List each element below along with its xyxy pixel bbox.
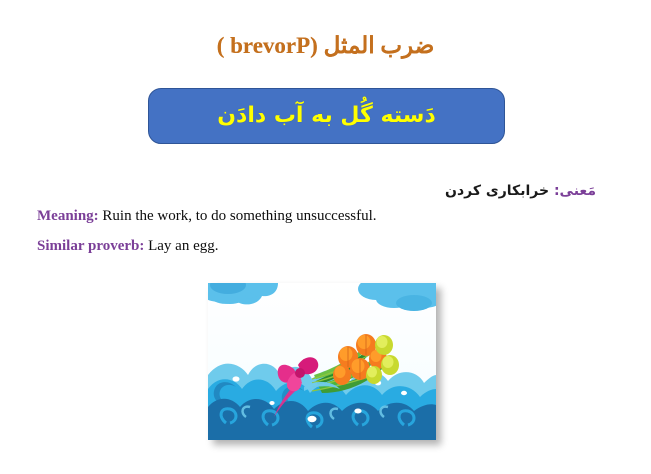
- persian-meaning-label: مَعنی:: [554, 183, 596, 199]
- persian-meaning-value: خرابکاری کردن: [445, 183, 549, 199]
- page-title-text: ضرب المثل (Proverb ): [217, 33, 435, 58]
- page-title: ضرب المثل (Proverb ): [0, 33, 651, 59]
- proverb-illustration: [208, 283, 436, 440]
- english-meaning-value: Ruin the work, to do something unsuccess…: [102, 208, 376, 224]
- persian-meaning-line: مَعنی: خرابکاری کردن: [445, 183, 596, 199]
- bouquet-on-waves-image: [208, 283, 436, 440]
- similar-proverb-label: Similar proverb:: [37, 238, 144, 254]
- proverb-page: ضرب المثل (Proverb ) دَسته گُل به آب داد…: [0, 0, 651, 474]
- proverb-text: دَسته گُل به آب دادَن: [217, 103, 435, 129]
- similar-proverb-value: Lay an egg.: [148, 238, 218, 254]
- english-meaning-label: Meaning:: [37, 208, 99, 224]
- proverb-banner: دَسته گُل به آب دادَن: [148, 88, 505, 144]
- english-meaning-line: Meaning: Ruin the work, to do something …: [37, 208, 377, 225]
- similar-proverb-line: Similar proverb: Lay an egg.: [37, 238, 219, 255]
